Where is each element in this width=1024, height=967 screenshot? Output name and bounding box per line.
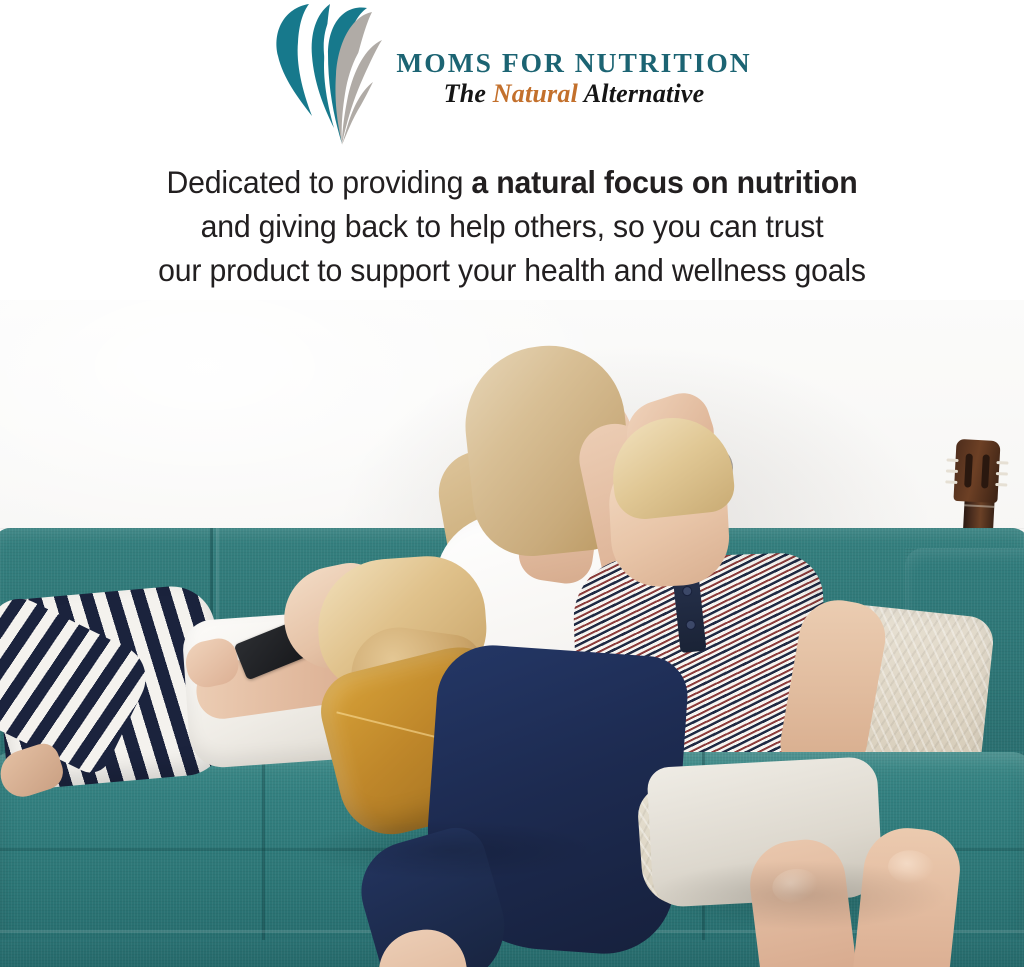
family-photo <box>0 300 1024 967</box>
headline-line-3: our product to support your health and w… <box>20 248 1003 292</box>
promo-banner: MOMS FOR NUTRITION The Natural Alternati… <box>0 0 1024 967</box>
tagline-natural: Natural <box>493 79 578 108</box>
heart-swoosh-logo-icon <box>272 0 390 146</box>
headline: Dedicated to providing a natural focus o… <box>20 160 1003 292</box>
tagline-alternative: Alternative <box>578 79 704 108</box>
headline-line-2: and giving back to help others, so you c… <box>20 204 1003 248</box>
headline-line-1-bold: a natural focus on nutrition <box>471 164 857 200</box>
brand-tagline: The Natural Alternative <box>444 79 705 110</box>
brand-name: MOMS FOR NUTRITION <box>396 48 751 77</box>
guitar-headstock <box>953 439 1000 503</box>
headline-line-1-plain: Dedicated to providing <box>167 164 472 200</box>
headline-line-1: Dedicated to providing a natural focus o… <box>20 160 1003 204</box>
brand-logo-block[interactable]: MOMS FOR NUTRITION The Natural Alternati… <box>0 0 1024 150</box>
tagline-the: The <box>444 79 493 108</box>
